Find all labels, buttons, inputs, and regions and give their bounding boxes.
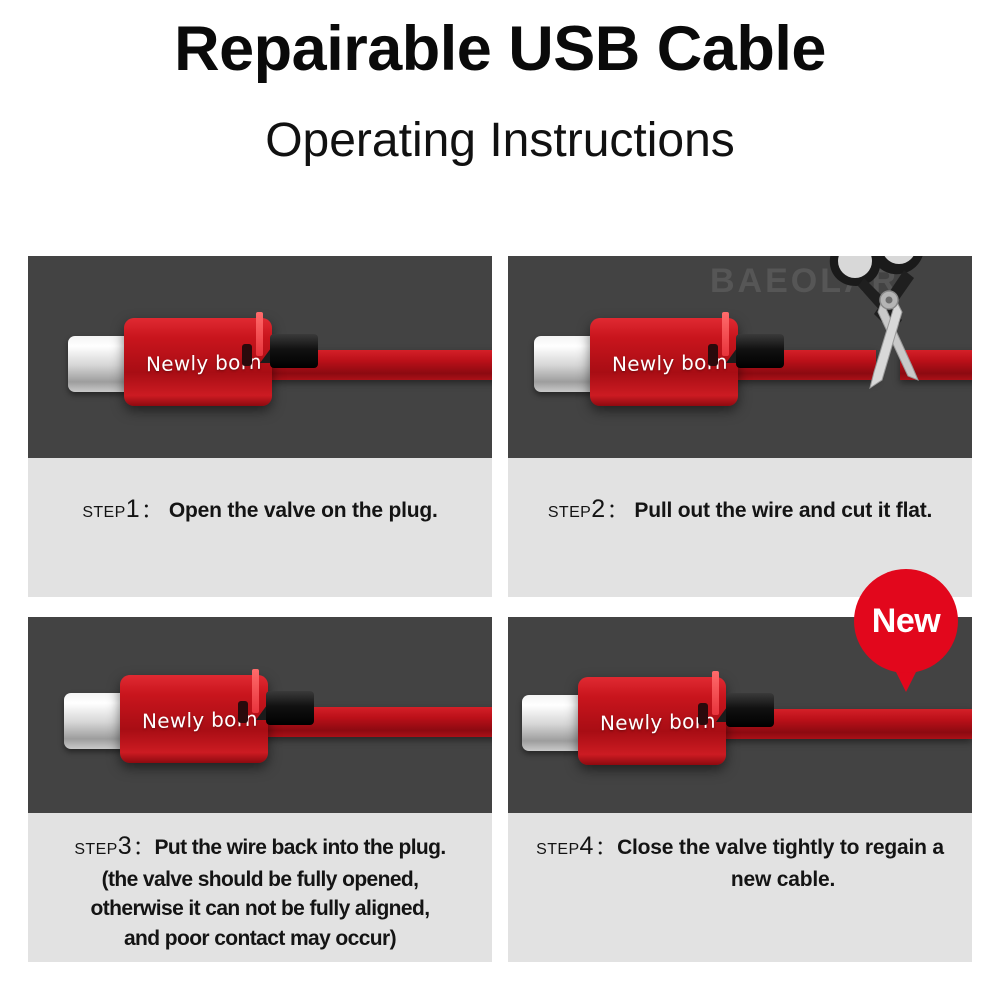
step-3-text: Put the wire back into the plug.: [154, 836, 445, 859]
cable-illustration: Newly born: [28, 617, 492, 813]
step-3-line-2: (the valve should be fully opened,: [74, 865, 445, 895]
step-1-text: Open the valve on the plug.: [169, 499, 438, 522]
step-3-colon: ：: [131, 837, 154, 859]
cable-illustration: Newly born: [28, 256, 492, 458]
step-1-colon: ：: [139, 500, 163, 522]
usb-c-connector-icon: [68, 336, 130, 392]
usb-c-connector-icon: [522, 695, 584, 751]
step-1-caption: STEP1： Open the valve on the plug.: [28, 458, 492, 597]
page-title: Repairable USB Cable: [0, 16, 1000, 82]
valve-notch: [238, 701, 248, 723]
step-3-number: 3: [118, 832, 131, 860]
new-badge-label: New: [854, 569, 958, 673]
step-1-word: STEP: [82, 504, 125, 521]
step-3-line-4: and poor contact may occur): [74, 924, 445, 954]
usb-c-connector-icon: [64, 693, 126, 749]
step-2-word: STEP: [548, 504, 591, 521]
valve-notch: [242, 344, 252, 366]
step-panel-3: Newly born STEP3：Put the wire back into …: [28, 617, 492, 962]
step-3-photo: Newly born: [28, 617, 492, 813]
valve-clamp-block: [736, 334, 784, 368]
step-3-word: STEP: [74, 841, 117, 858]
step-3-caption: STEP3：Put the wire back into the plug. (…: [28, 813, 492, 962]
step-4-colon: ：: [593, 837, 617, 859]
valve-notch: [708, 344, 718, 366]
page-subtitle: Operating Instructions: [0, 116, 1000, 166]
step-1-photo: Newly born: [28, 256, 492, 458]
step-4-line-2: new cable.: [536, 865, 944, 895]
step-2-line-1: STEP2： Pull out the wire and cut it flat…: [548, 492, 932, 528]
step-2-photo: BAEOLAR Newly born: [508, 256, 972, 458]
valve-clamp-block: [270, 334, 318, 368]
step-4-text: Close the valve tightly to regain a: [617, 836, 944, 859]
step-1-number: 1: [126, 495, 140, 523]
valve-clamp-block: [726, 693, 774, 727]
step-2-colon: ：: [605, 500, 629, 522]
cable-ribbon-cut-end: [900, 350, 972, 380]
step-2-number: 2: [591, 495, 605, 523]
step-1-line-1: STEP1： Open the valve on the plug.: [82, 492, 437, 528]
step-4-line-1: STEP4：Close the valve tightly to regain …: [536, 829, 944, 865]
valve-clamp-block: [266, 691, 314, 725]
step-4-caption: STEP4：Close the valve tightly to regain …: [508, 813, 972, 962]
usb-c-connector-icon: [534, 336, 596, 392]
step-2-text: Pull out the wire and cut it flat.: [634, 499, 932, 522]
brand-watermark: BAEOLAR: [710, 262, 899, 301]
instruction-sheet: Repairable USB Cable Operating Instructi…: [0, 0, 1000, 1000]
valve-notch: [698, 703, 708, 725]
step-3-line-1: STEP3：Put the wire back into the plug.: [74, 829, 445, 865]
step-4-number: 4: [580, 832, 594, 860]
step-panel-2: BAEOLAR Newly born: [508, 256, 972, 597]
steps-grid: Newly born STEP1： Open the valve on the …: [28, 256, 972, 962]
new-badge: New: [854, 569, 958, 673]
step-3-line-3: otherwise it can not be fully aligned,: [74, 894, 445, 924]
step-4-word: STEP: [536, 841, 579, 858]
step-panel-4: New Newly born STEP4：C: [508, 617, 972, 962]
step-panel-1: Newly born STEP1： Open the valve on the …: [28, 256, 492, 597]
